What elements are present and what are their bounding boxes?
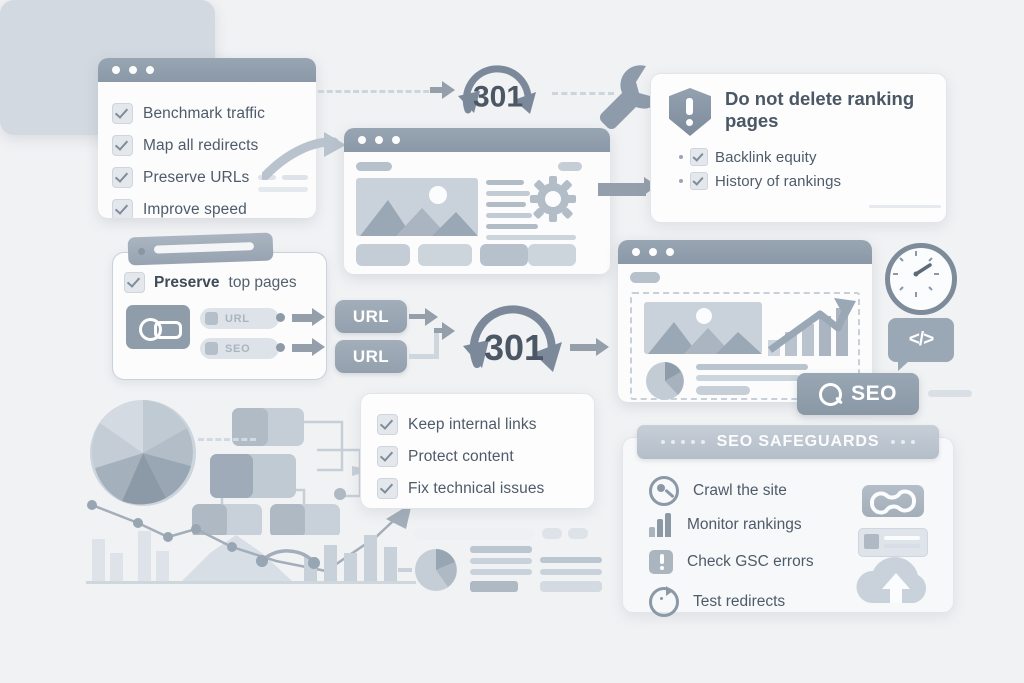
seo-search-button[interactable]: SEO <box>797 373 919 415</box>
connector-line <box>434 330 439 358</box>
list-item[interactable]: Fix technical issues <box>377 478 578 499</box>
safeguards-title: SEO SAFEGUARDS <box>717 433 880 451</box>
tag-swatch-icon <box>205 342 218 355</box>
text-line <box>486 180 524 185</box>
preserve-title-bold: Preserve <box>154 274 220 292</box>
link-icon <box>126 305 190 349</box>
page-mockup <box>344 152 610 274</box>
warning-card: Do not delete ranking pages Backlink equ… <box>650 73 947 223</box>
checkbox-checked-icon[interactable] <box>112 103 133 124</box>
exclamation-icon <box>649 550 673 574</box>
arrow-icon <box>570 344 598 351</box>
window-dot-yellow <box>129 66 137 74</box>
window-dot-green <box>666 248 674 256</box>
window-title-bar <box>618 240 872 264</box>
link-glyph <box>862 485 924 517</box>
window-dot-green <box>392 136 400 144</box>
list-item-label: Preserve URLs <box>143 169 249 187</box>
text-line <box>696 364 808 370</box>
window-dot-red <box>112 66 120 74</box>
code-bubble-label: </> <box>909 329 933 351</box>
list-item[interactable]: Backlink equity <box>679 148 946 166</box>
infographic-canvas: Benchmark traffic Map all redirects Pres… <box>0 0 1024 683</box>
text-line <box>486 213 532 218</box>
gear-icon <box>530 176 576 222</box>
list-item-label: Fix technical issues <box>408 480 544 498</box>
checkbox-checked-icon[interactable] <box>112 199 133 218</box>
checkbox-checked-icon[interactable] <box>112 167 133 188</box>
list-item[interactable]: Improve speed <box>112 199 302 218</box>
growth-chart-icon <box>768 298 856 356</box>
refresh-redirect-icon <box>649 587 679 617</box>
list-item[interactable]: Monitor rankings <box>649 513 802 537</box>
clipboard-clip-icon <box>128 232 274 265</box>
curved-arrow-icon <box>262 132 348 180</box>
window-dot-green <box>146 66 154 74</box>
checkbox-checked-icon[interactable] <box>377 446 398 467</box>
redirect-code: 301 <box>484 327 544 369</box>
card-block <box>356 244 410 266</box>
list-item-label: History of rankings <box>715 173 841 190</box>
checkbox-checked-icon[interactable] <box>124 272 145 293</box>
checkbox-checked-icon[interactable] <box>690 172 708 190</box>
list-item-label: Improve speed <box>143 201 247 219</box>
decor-line <box>258 187 308 192</box>
card-line <box>884 544 920 548</box>
window-dot-red <box>358 136 366 144</box>
list-item-label: Keep internal links <box>408 416 537 434</box>
arrow-icon <box>430 87 444 93</box>
text-line <box>486 224 538 229</box>
header-dots-left <box>661 440 705 444</box>
warning-header: Do not delete ranking pages <box>651 74 946 138</box>
tag-label: URL <box>225 313 250 325</box>
card-block <box>418 244 472 266</box>
divider <box>869 205 941 208</box>
checkbox-checked-icon[interactable] <box>690 148 708 166</box>
window-title-bar <box>344 128 610 152</box>
bullet-icon <box>679 179 683 183</box>
warning-title: Do not delete ranking pages <box>725 88 930 136</box>
list-item[interactable]: History of rankings <box>679 172 946 190</box>
list-item-label: Test redirects <box>693 593 785 611</box>
list-item[interactable]: Keep internal links <box>377 414 578 435</box>
url-pill-label: URL <box>353 347 389 367</box>
tag-swatch-icon <box>205 312 218 325</box>
list-item-label: Monitor rankings <box>687 516 802 534</box>
warning-list: Backlink equity History of rankings <box>651 138 946 190</box>
nav-pill <box>630 272 660 283</box>
text-line <box>696 375 800 381</box>
card-block <box>480 244 528 266</box>
seo-protect-checklist-card: Keep internal links Protect content Fix … <box>360 393 595 509</box>
window-dot-red <box>632 248 640 256</box>
mini-dashboard <box>414 528 604 596</box>
url-pill[interactable]: URL <box>335 340 407 373</box>
tag-label: SEO <box>225 343 250 355</box>
text-line <box>486 202 526 207</box>
list-item[interactable]: Protect content <box>377 446 578 467</box>
arrow-icon <box>292 344 314 352</box>
decor-line <box>398 568 412 572</box>
list-item-label: Crawl the site <box>693 482 787 500</box>
url-pill[interactable]: URL <box>335 300 407 333</box>
arrow-icon <box>409 314 427 319</box>
list-item-label: Map all redirects <box>143 137 258 155</box>
list-item-label: Check GSC errors <box>687 553 814 571</box>
cloud-upload-icon <box>850 553 942 605</box>
preserve-title-row[interactable]: Preserve top pages <box>124 272 297 293</box>
list-item[interactable]: Benchmark traffic <box>112 103 302 124</box>
checkbox-checked-icon[interactable] <box>377 478 398 499</box>
redirect-301-top: 301 <box>450 58 546 138</box>
seo-button-label: SEO <box>851 382 897 406</box>
list-item[interactable]: Test redirects <box>649 587 785 617</box>
link-bar <box>154 321 182 339</box>
preserve-title-rest: top pages <box>229 274 297 292</box>
safeguards-header: SEO SAFEGUARDS <box>637 425 939 459</box>
text-line <box>696 386 750 395</box>
magnifier-icon <box>819 383 842 406</box>
arrow-icon <box>598 183 646 196</box>
nav-pill <box>558 162 582 171</box>
website-preview-window <box>344 128 610 274</box>
code-bubble-icon: </> <box>888 318 954 362</box>
redirect-301-middle: 301 <box>455 300 573 398</box>
nav-pill <box>356 162 392 171</box>
list-item[interactable]: Crawl the site <box>649 476 787 506</box>
tag-url[interactable]: URL <box>200 308 279 329</box>
window-title-bar <box>98 58 316 82</box>
redirect-code: 301 <box>473 80 523 114</box>
pie-chart-icon <box>644 360 688 400</box>
clock-icon <box>885 243 957 315</box>
list-item-label: Protect content <box>408 448 514 466</box>
arrow-icon <box>292 314 314 322</box>
image-placeholder-icon <box>356 178 478 236</box>
text-line <box>486 191 530 196</box>
bullet-icon <box>679 155 683 159</box>
list-item-label: Backlink equity <box>715 149 817 166</box>
card-thumb <box>864 534 879 549</box>
connector-node <box>276 313 285 322</box>
window-dot-yellow <box>375 136 383 144</box>
link-badge-icon <box>862 485 924 517</box>
bar-chart-icon <box>649 513 673 537</box>
decor-line <box>928 390 972 397</box>
window-dot-yellow <box>649 248 657 256</box>
dashed-connector <box>198 438 256 441</box>
header-dots-right <box>891 440 915 444</box>
checkbox-checked-icon[interactable] <box>112 135 133 156</box>
text-line <box>486 235 576 240</box>
connector-node <box>276 343 285 352</box>
checklist-body: Keep internal links Protect content Fix … <box>361 394 594 519</box>
dashed-connector <box>318 90 438 93</box>
url-pill-label: URL <box>353 307 389 327</box>
crawl-magnifier-icon <box>649 476 679 506</box>
card-block <box>528 244 576 266</box>
checkbox-checked-icon[interactable] <box>377 414 398 435</box>
list-item[interactable]: Check GSC errors <box>649 550 814 574</box>
list-item-label: Benchmark traffic <box>143 105 265 123</box>
shield-exclamation-icon <box>669 88 711 136</box>
tag-seo[interactable]: SEO <box>200 338 279 359</box>
card-line <box>884 536 920 540</box>
arrow-icon <box>434 328 444 333</box>
image-placeholder-icon <box>644 302 762 354</box>
